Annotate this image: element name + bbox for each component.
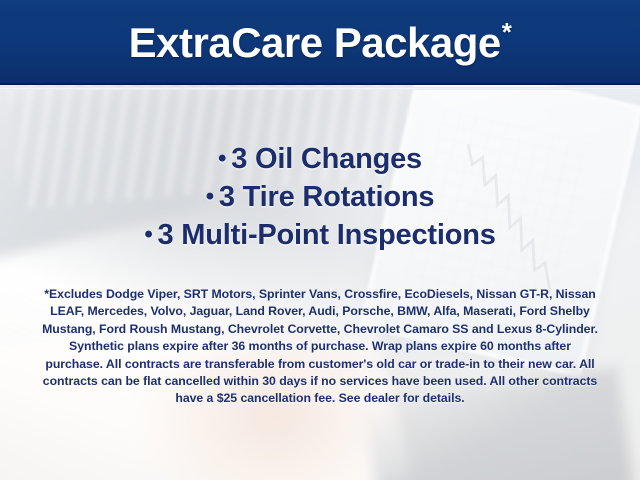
benefit-label: 3 Multi-Point Inspections <box>158 219 496 251</box>
list-item: •3 Multi-Point Inspections <box>0 216 640 254</box>
list-item: •3 Tire Rotations <box>0 178 640 216</box>
benefit-label: 3 Oil Changes <box>231 143 422 175</box>
bullet-icon: • <box>144 221 152 248</box>
extracare-package-promo-card: ExtraCare Package* •3 Oil Changes •3 Tir… <box>0 0 640 480</box>
banner-underline-divider <box>0 87 640 90</box>
page-title-text: ExtraCare Package <box>129 19 501 66</box>
page-title-asterisk: * <box>502 17 512 47</box>
disclaimer-text: *Excludes Dodge Viper, SRT Motors, Sprin… <box>40 286 600 408</box>
list-item: •3 Oil Changes <box>0 140 640 178</box>
bullet-icon: • <box>206 183 214 210</box>
bullet-icon: • <box>218 145 226 172</box>
page-title: ExtraCare Package* <box>129 19 512 64</box>
content-area: •3 Oil Changes •3 Tire Rotations •3 Mult… <box>0 90 640 480</box>
header-banner: ExtraCare Package* <box>0 0 640 85</box>
benefit-label: 3 Tire Rotations <box>219 181 434 213</box>
benefits-list: •3 Oil Changes •3 Tire Rotations •3 Mult… <box>0 140 640 254</box>
